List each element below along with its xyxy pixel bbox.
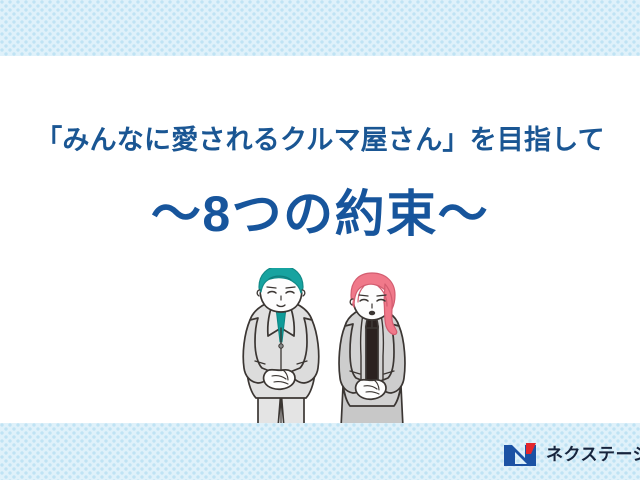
nextage-logo: ネクステージ	[503, 441, 640, 467]
promise-title-text: 〜8つの約束〜	[0, 183, 640, 246]
tagline-text: 「みんなに愛されるクルマ屋さん」を目指して	[0, 124, 640, 156]
nextage-n-logo-icon	[503, 441, 539, 467]
male-staff-figure	[243, 268, 319, 428]
female-staff-figure	[339, 273, 405, 428]
top-polka-dot-band	[0, 0, 640, 56]
nextage-logo-text: ネクステージ	[546, 446, 640, 463]
staff-bowing-illustration	[238, 268, 423, 433]
banner-image: 「みんなに愛されるクルマ屋さん」を目指して 〜8つの約束〜	[0, 0, 640, 480]
